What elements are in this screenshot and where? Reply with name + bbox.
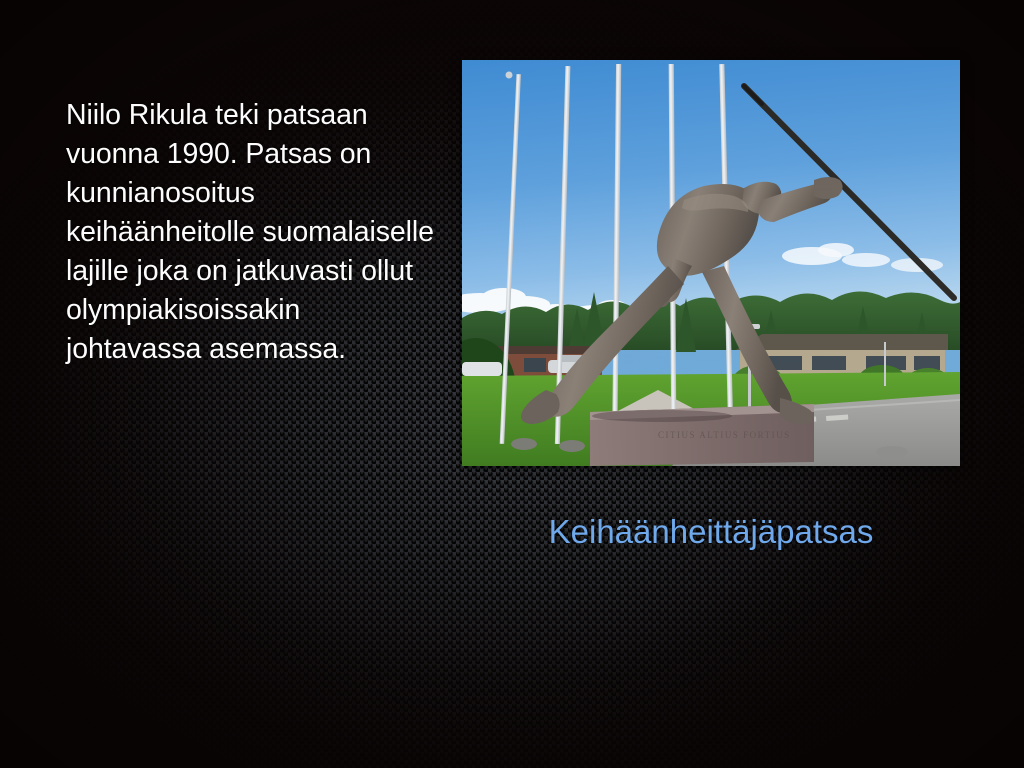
photo-caption: Keihäänheittäjäpatsas (462, 512, 960, 552)
statue-photograph: CITIUS ALTIUS FORTIUS (462, 60, 960, 466)
body-paragraph: Niilo Rikula teki patsaan vuonna 1990. P… (66, 96, 438, 369)
presentation-slide: Niilo Rikula teki patsaan vuonna 1990. P… (0, 0, 1024, 768)
statue-photo-illustration: CITIUS ALTIUS FORTIUS (462, 60, 960, 466)
